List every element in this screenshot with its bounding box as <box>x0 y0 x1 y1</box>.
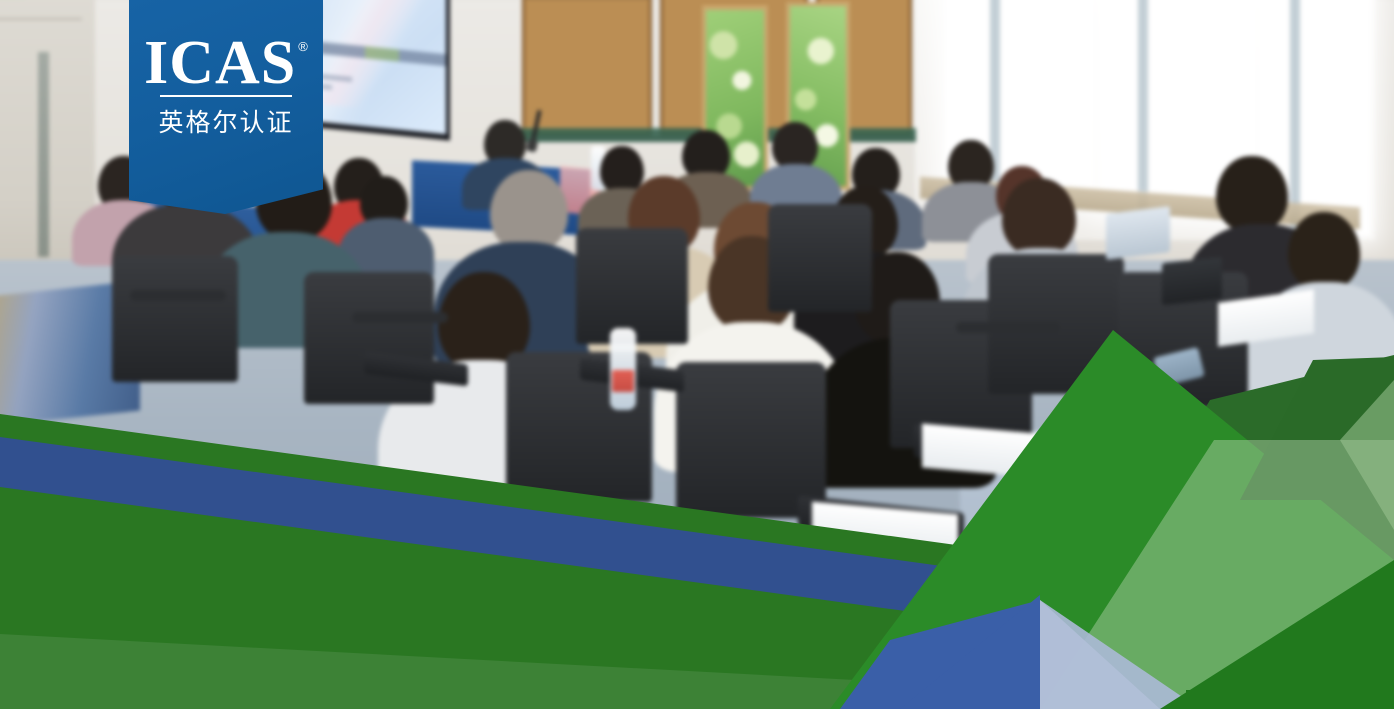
window-mullion-3 <box>1290 0 1300 230</box>
chair-armrest <box>130 290 226 301</box>
icas-logo-panel: ICAS ® 英格尔认证 <box>129 0 323 214</box>
registered-trademark-icon: ® <box>298 40 308 53</box>
attendee-head <box>772 122 818 170</box>
icas-chinese-name: 英格尔认证 <box>158 103 293 139</box>
door-frame <box>38 52 49 257</box>
attendee-head <box>1288 212 1360 290</box>
conference-chair <box>112 256 238 382</box>
conference-chair <box>676 362 826 518</box>
attendee-head <box>1216 156 1288 232</box>
wooden-blind-1 <box>522 0 652 136</box>
wall-seam <box>0 18 82 20</box>
water-bottle <box>610 328 636 410</box>
tablet-device <box>1106 206 1170 260</box>
conference-chair <box>768 204 872 312</box>
attendee-head <box>490 170 568 252</box>
chair-armrest <box>352 312 448 323</box>
tablet-device <box>1162 257 1222 305</box>
chair-armrest <box>956 322 1060 333</box>
attendee-head <box>600 146 644 194</box>
conference-chair <box>304 272 434 404</box>
conference-chair <box>576 228 688 344</box>
banner-stage: ICAS ® 英格尔认证 <box>0 0 1394 709</box>
attendee-head <box>1002 178 1076 256</box>
icas-wordmark: ICAS ® <box>144 34 308 93</box>
window-mullion-2 <box>1138 0 1148 215</box>
icas-logo-text: ICAS <box>144 34 296 93</box>
